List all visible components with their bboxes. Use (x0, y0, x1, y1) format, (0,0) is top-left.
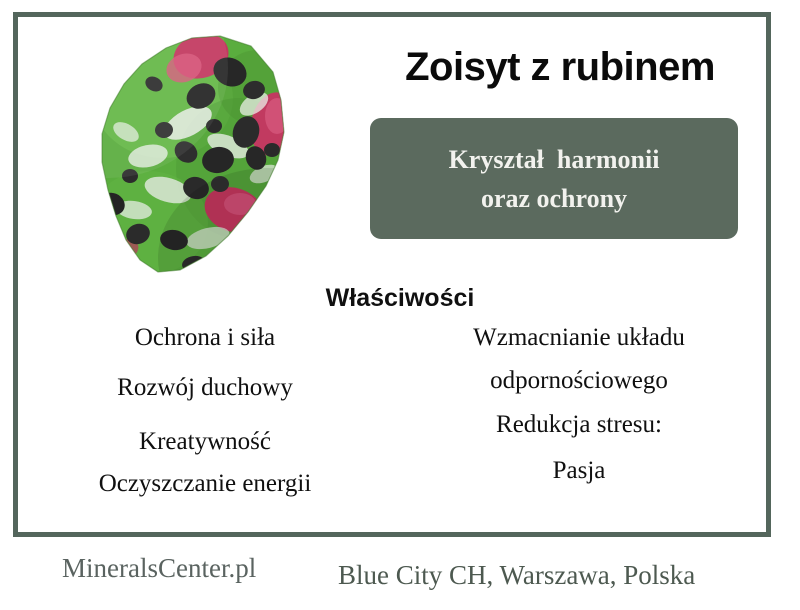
list-item: Ochrona i siła (22, 324, 388, 352)
subtitle-line-1: Kryształ harmonii (449, 140, 660, 179)
footer: MineralsCenter.pl Blue City CH, Warszawa… (0, 545, 800, 603)
list-item: Pasja (396, 457, 762, 485)
ruby-zoisite-specimen-image (68, 28, 318, 283)
footer-brand-name: MineralsCenter.pl (62, 551, 256, 585)
properties-right-column: Wzmacnianie układu odpornościowego Reduk… (388, 322, 762, 518)
specimen-body (68, 28, 318, 283)
subtitle-line-2: oraz ochrony (481, 179, 627, 218)
footer-location: Blue City CH, Warszawa, Polska (338, 558, 695, 592)
list-item: Kreatywność (22, 428, 388, 456)
list-item: odpornościowego (396, 367, 762, 395)
properties-left-column: Ochrona i siła Rozwój duchowy Kreatywnoś… (22, 322, 388, 518)
properties-heading: Właściwości (200, 283, 600, 313)
list-item: Redukcja stresu: (396, 411, 762, 439)
list-item: Wzmacnianie układu (396, 324, 762, 352)
list-item: Rozwój duchowy (22, 374, 388, 402)
page-title: Zoisyt z rubinem (350, 44, 770, 90)
list-item: Oczyszczanie energii (22, 470, 388, 498)
specimen-illustration-svg (68, 28, 318, 283)
mineral-info-poster: Zoisyt z rubinem Kryształ harmonii oraz … (0, 0, 800, 610)
properties-section: Ochrona i siła Rozwój duchowy Kreatywnoś… (22, 322, 762, 518)
subtitle-plaque: Kryształ harmonii oraz ochrony (370, 118, 738, 239)
